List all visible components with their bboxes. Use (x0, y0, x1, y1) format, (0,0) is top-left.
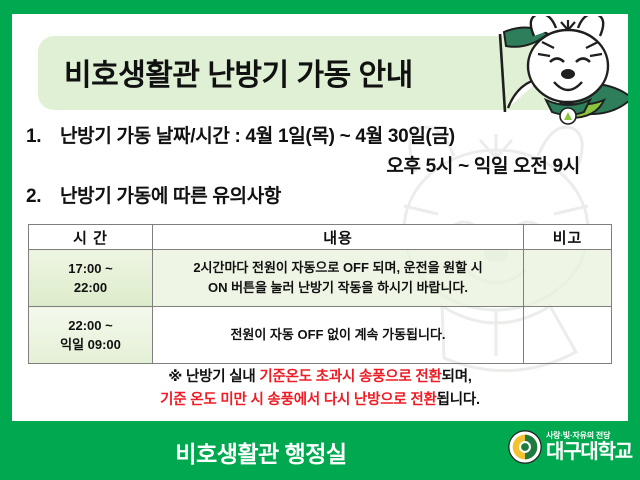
footnote-suffix: 됩니다. (437, 392, 480, 408)
cell-remark (524, 307, 612, 364)
notice-poster: 비호생활관 난방기 가동 안내 (0, 0, 640, 480)
list-item-subline: 오후 5시 ~ 익일 오전 9시 (26, 152, 626, 182)
cell-content: 전원이 자동 OFF 없이 계속 가동됩니다. (153, 307, 524, 364)
notice-list: 1. 난방기 가동 날짜/시간 : 4월 1일(목) ~ 4월 30일(금) 오… (26, 122, 626, 212)
footnote-highlight: 기준온도 초과시 송풍으로 전환 (259, 369, 441, 385)
list-item-text: 난방기 가동에 따른 유의사항 (60, 182, 281, 212)
university-tagline: 사랑·빛·자유의 전당 (546, 432, 632, 440)
footnote-line-2: 기준 온도 미만 시 송풍에서 다시 난방으로 전환됩니다. (28, 389, 612, 412)
schedule-table: 시 간 내용 비고 17:00 ~ 22:00 2시간마다 전원이 자동으로 O… (28, 224, 612, 364)
footnote-suffix: 되며, (442, 369, 472, 385)
cell-time-line1: 17:00 ~ (29, 259, 152, 278)
cell-time-line2: 22:00 (29, 278, 152, 297)
tiger-mascot-icon (464, 16, 628, 138)
cell-time: 17:00 ~ 22:00 (29, 250, 153, 307)
list-item-number: 1. (26, 122, 60, 152)
table-row: 17:00 ~ 22:00 2시간마다 전원이 자동으로 OFF 되며, 운전을… (29, 250, 612, 307)
cell-time-line2: 익일 09:00 (29, 335, 152, 354)
footnote-line-1: ※ 난방기 실내 기준온도 초과시 송풍으로 전환되며, (28, 366, 612, 389)
list-item: 1. 난방기 가동 날짜/시간 : 4월 1일(목) ~ 4월 30일(금) (26, 122, 626, 152)
cell-remark (524, 250, 612, 307)
list-item: 2. 난방기 가동에 따른 유의사항 (26, 182, 626, 212)
column-header-content: 내용 (153, 225, 524, 250)
cell-content: 2시간마다 전원이 자동으로 OFF 되며, 운전을 원할 시 ON 버튼을 눌… (153, 250, 524, 307)
list-item-text: 난방기 가동 날짜/시간 : 4월 1일(목) ~ 4월 30일(금) (60, 122, 455, 152)
poster-canvas: 비호생활관 난방기 가동 안내 (12, 14, 628, 421)
university-logo-text: 사랑·빛·자유의 전당 대구대학교 (546, 432, 632, 462)
table-row: 22:00 ~ 익일 09:00 전원이 자동 OFF 없이 계속 가동됩니다. (29, 307, 612, 364)
cell-time: 22:00 ~ 익일 09:00 (29, 307, 153, 364)
cell-content-line1: 전원이 자동 OFF 없이 계속 가동됩니다. (153, 325, 523, 345)
university-logo: 사랑·빛·자유의 전당 대구대학교 (508, 430, 632, 464)
cell-content-line2: ON 버튼을 눌러 난방기 작동을 하시기 바랍니다. (153, 278, 523, 298)
column-header-remark: 비고 (524, 225, 612, 250)
table-header-row: 시 간 내용 비고 (29, 225, 612, 250)
university-name: 대구대학교 (546, 442, 632, 462)
list-item-number: 2. (26, 182, 60, 212)
footer-bar: 비호생활관 행정실 사랑·빛·자유의 전당 대구대학교 (0, 421, 640, 480)
cell-content-line1: 2시간마다 전원이 자동으로 OFF 되며, 운전을 원할 시 (153, 258, 523, 278)
notice-footnote: ※ 난방기 실내 기준온도 초과시 송풍으로 전환되며, 기준 온도 미만 시 … (28, 366, 612, 412)
cell-time-line1: 22:00 ~ (29, 316, 152, 335)
university-emblem-icon (508, 430, 542, 464)
column-header-time: 시 간 (29, 225, 153, 250)
footnote-highlight: 기준 온도 미만 시 송풍에서 다시 난방으로 전환 (160, 392, 436, 408)
footnote-prefix: ※ 난방기 실내 (168, 369, 259, 385)
